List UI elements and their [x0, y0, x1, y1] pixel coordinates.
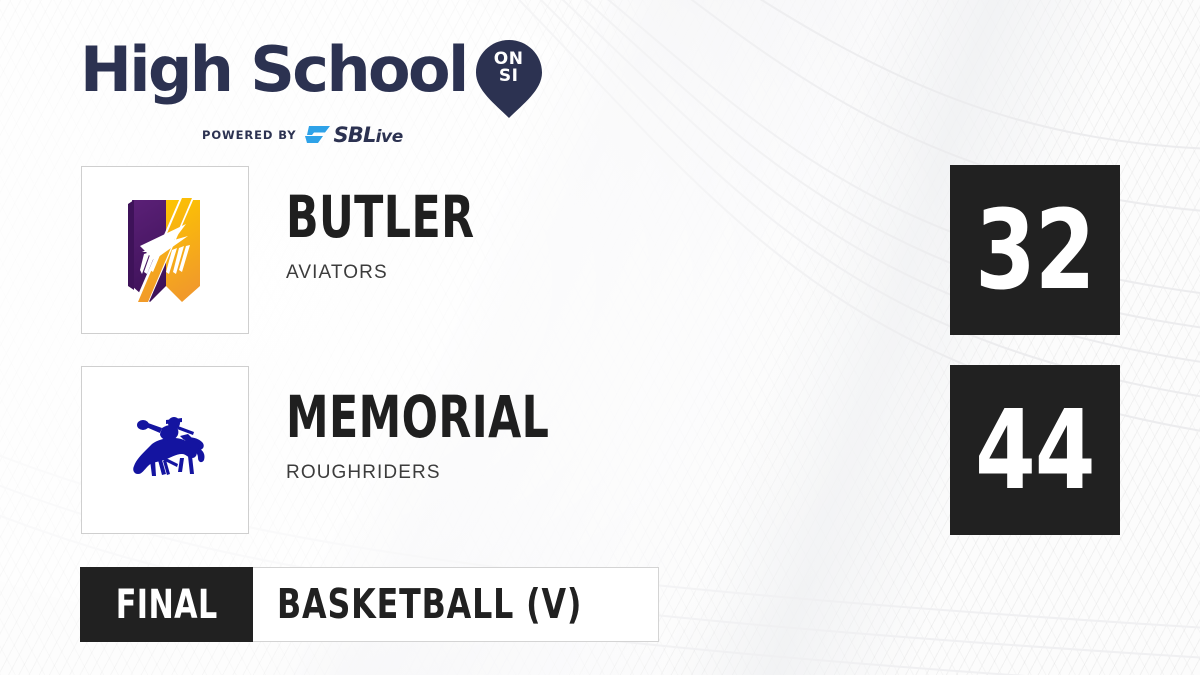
brand-header: High School ON SI POWERED BY SBLive — [80, 38, 510, 134]
pin-line-si: SI — [475, 68, 543, 85]
team-row-away: BUTLER AVIATORS 32 — [0, 166, 1200, 334]
status-badge: FINAL — [80, 567, 253, 642]
status-badge-label: FINAL — [116, 585, 218, 625]
team-name: BUTLER — [286, 188, 474, 246]
score-box-away: 32 — [950, 165, 1120, 335]
sblive-word-lower: ive — [376, 127, 403, 147]
status-bar: FINAL BASKETBALL (V) — [80, 567, 659, 642]
sblive-wordmark: SBLive — [333, 123, 402, 147]
powered-by-row: POWERED BY SBLive — [202, 123, 510, 147]
sport-label-box: BASKETBALL (V) — [253, 567, 659, 642]
team-text-home: MEMORIAL ROUGHRIDERS — [286, 388, 607, 484]
score-box-home: 44 — [950, 365, 1120, 535]
butler-aviators-logo — [81, 166, 249, 334]
team-mascot: AVIATORS — [286, 262, 516, 284]
powered-by-label: POWERED BY — [202, 128, 296, 142]
sblive-mark-icon — [305, 125, 331, 145]
sblive-logo: SBLive — [305, 123, 402, 147]
on-si-pin-icon: ON SI — [475, 38, 543, 120]
sport-label: BASKETBALL (V) — [277, 584, 582, 625]
score-value: 44 — [975, 395, 1094, 505]
brand-title-row: High School ON SI — [80, 38, 510, 120]
team-text-away: BUTLER AVIATORS — [286, 188, 516, 284]
team-mascot: ROUGHRIDERS — [286, 462, 607, 484]
sblive-word-upper: SBL — [333, 123, 375, 147]
team-row-home: MEMORIAL ROUGHRIDERS 44 — [0, 366, 1200, 534]
page-title: High School — [80, 38, 467, 102]
score-value: 32 — [975, 195, 1094, 305]
on-si-pin-label: ON SI — [475, 51, 543, 85]
scoreboard-graphic: High School ON SI POWERED BY SBLive — [0, 0, 1200, 675]
memorial-roughriders-logo — [81, 366, 249, 534]
team-name: MEMORIAL — [286, 388, 549, 446]
